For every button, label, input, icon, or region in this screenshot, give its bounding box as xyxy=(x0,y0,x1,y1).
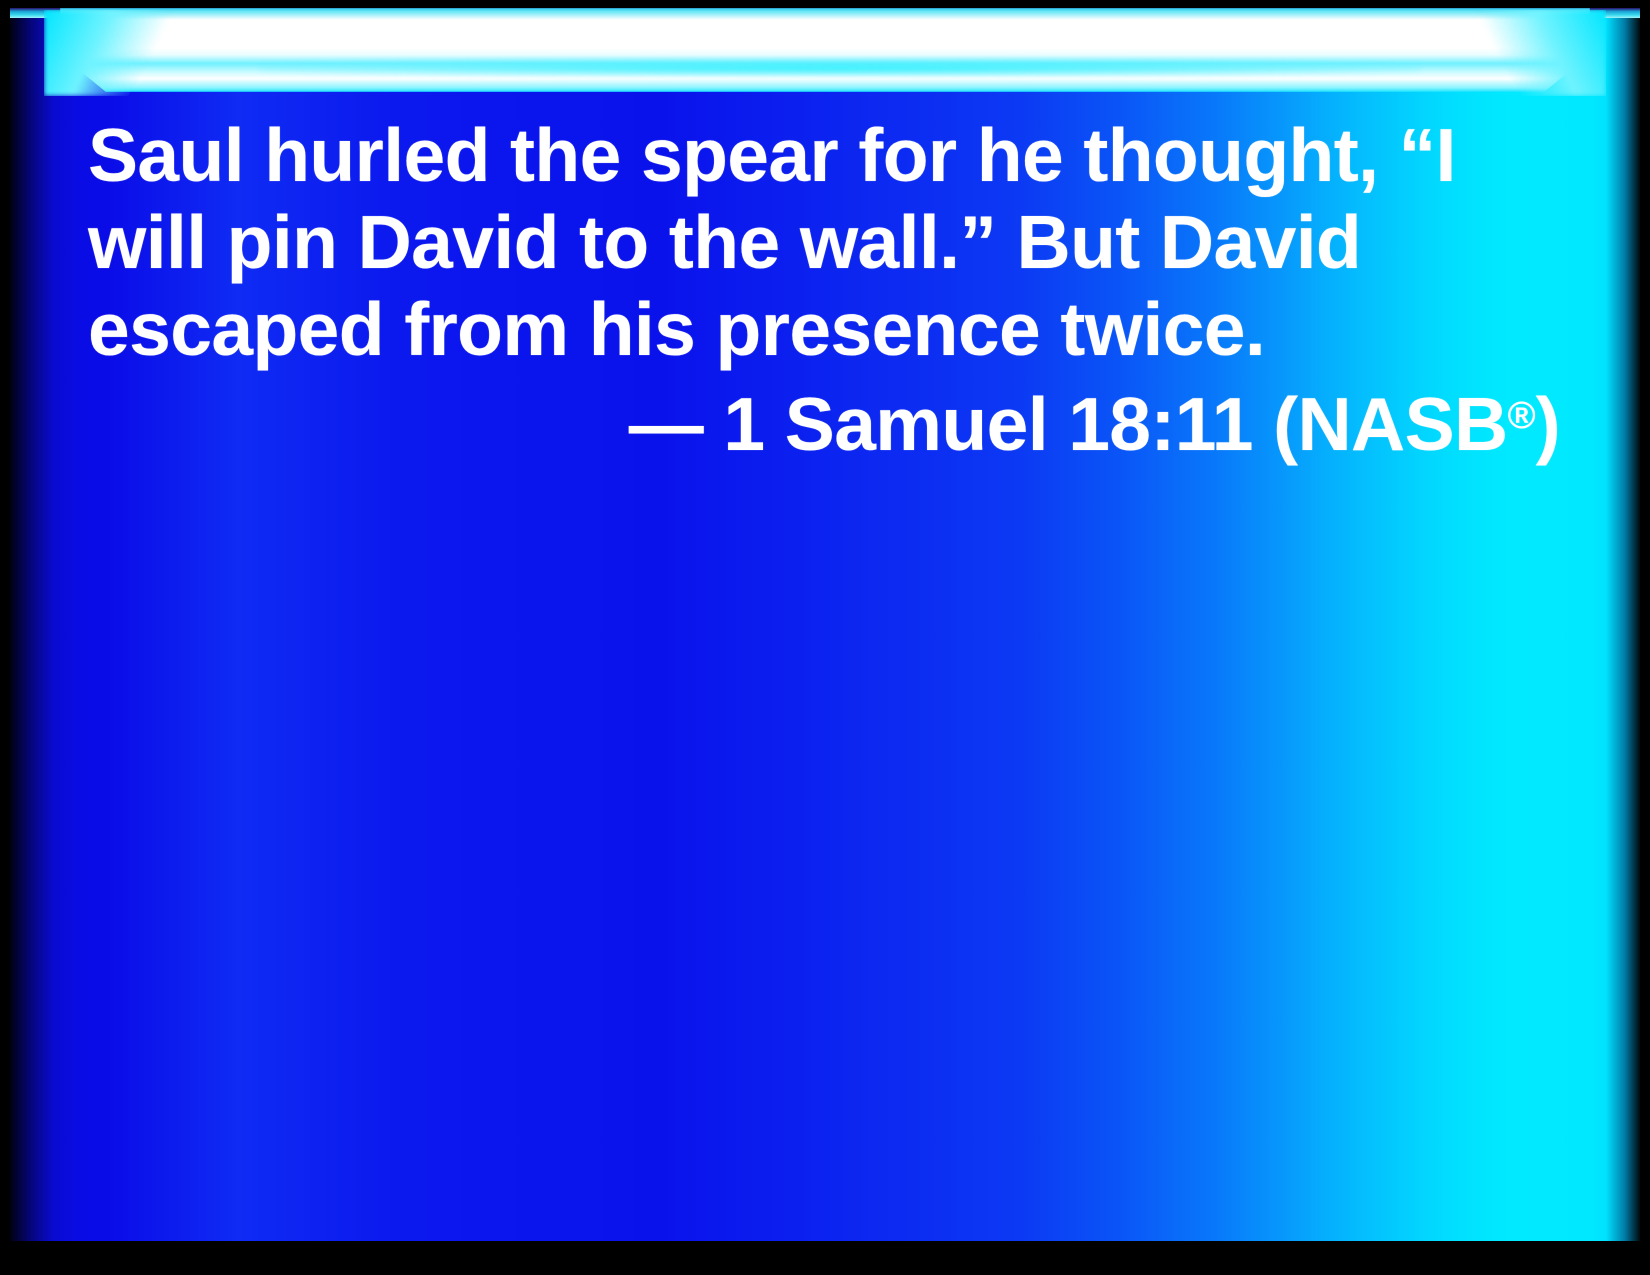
verse-citation: — 1 Samuel 18:11 (NASB®) xyxy=(88,373,1588,468)
verse-text-block: Saul hurled the spear for he thought, “I… xyxy=(88,112,1588,468)
scripture-slide: Saul hurled the spear for he thought, “I… xyxy=(0,0,1650,1275)
citation-suffix: ) xyxy=(1536,382,1560,466)
verse-line-2: will pin David to the wall.” But David xyxy=(88,199,1588,286)
verse-line-3: escaped from his presence twice. xyxy=(88,286,1588,373)
registered-trademark-icon: ® xyxy=(1508,395,1536,437)
citation-prefix: — 1 Samuel 18:11 (NASB xyxy=(629,382,1508,466)
verse-line-1: Saul hurled the spear for he thought, “I xyxy=(88,112,1588,199)
